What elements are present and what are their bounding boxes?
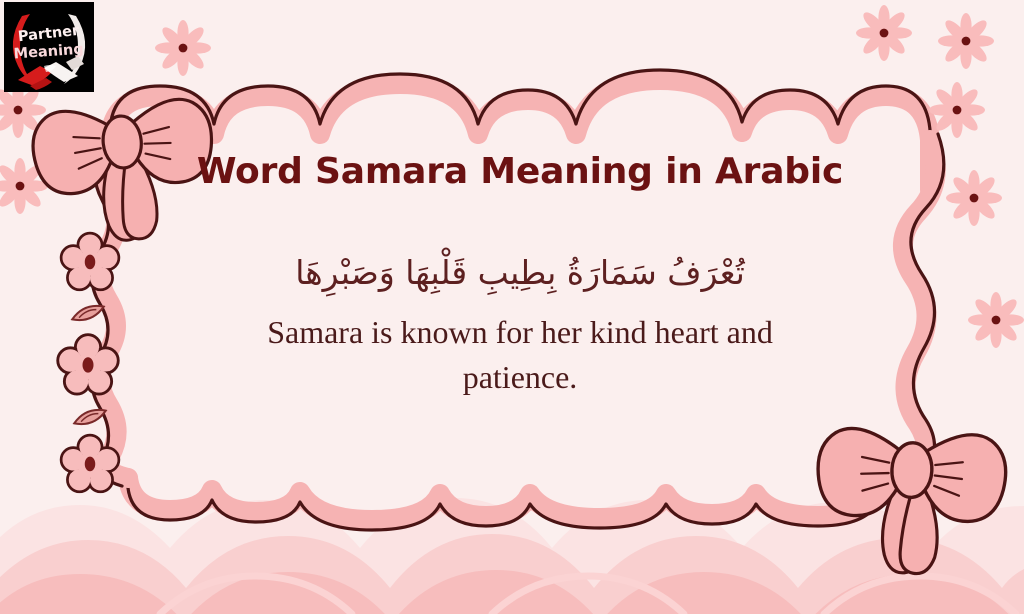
bow-bottom-right — [813, 427, 1008, 578]
poster-canvas: Word Samara Meaning in Arabic تُعْرَفُ س… — [0, 0, 1024, 614]
bow-decorations — [0, 0, 1024, 614]
bow-top-left — [29, 96, 221, 249]
logo-graphic: Partner Meaning — [4, 2, 94, 92]
partner-meaning-logo[interactable]: Partner Meaning — [4, 2, 94, 92]
